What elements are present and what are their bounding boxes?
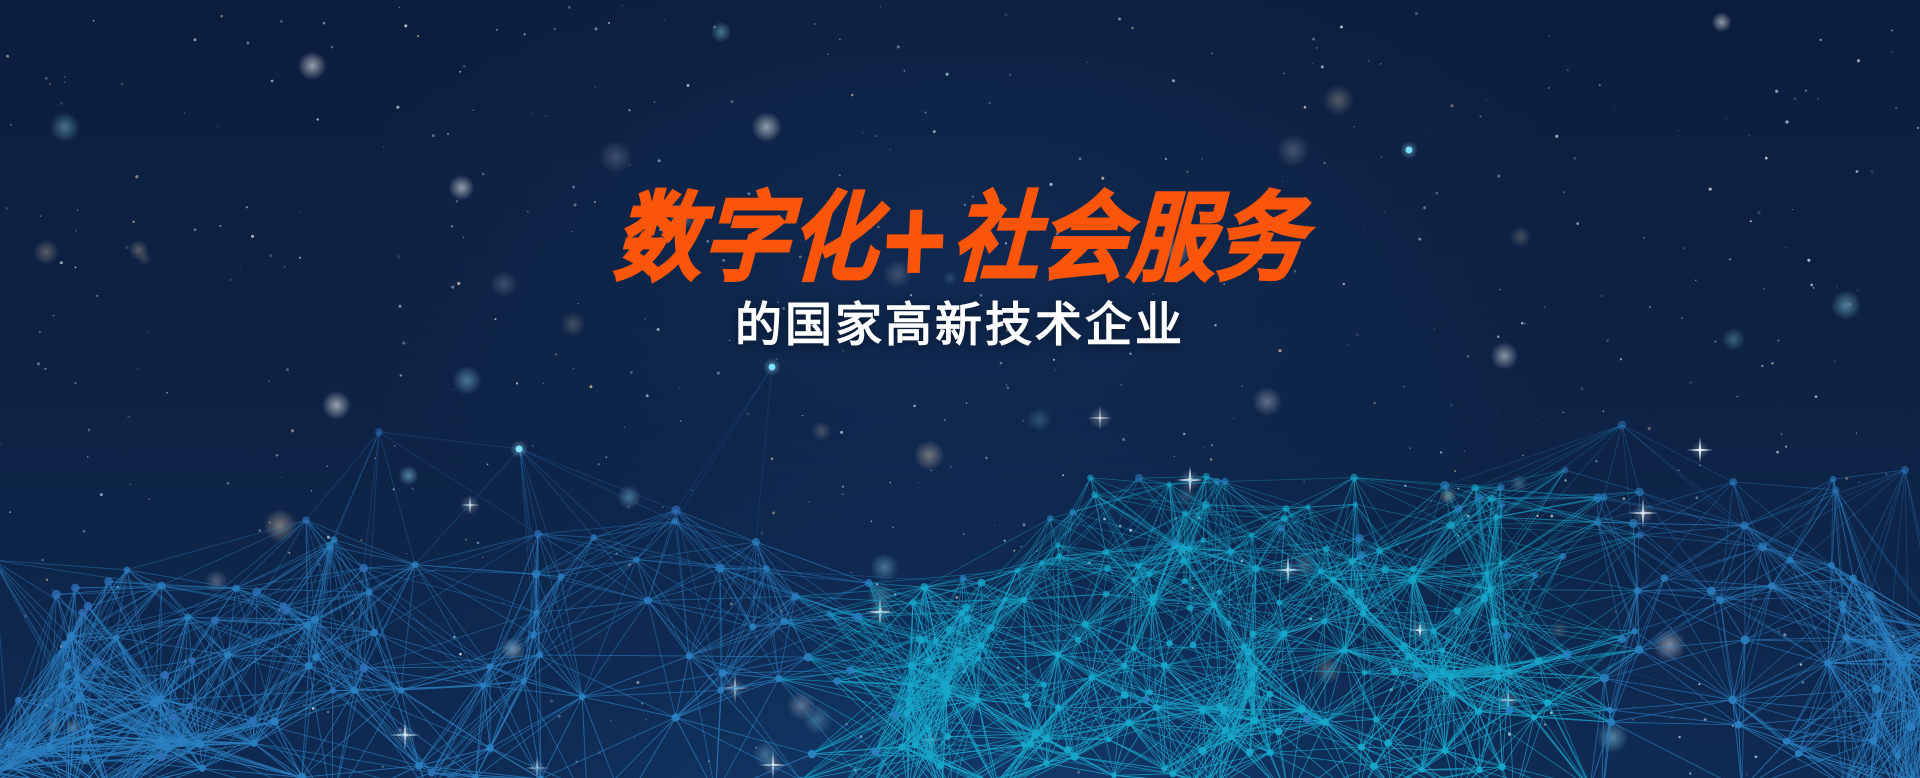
banner-stage: 数字化+社会服务 的国家高新技术企业 [0, 0, 1920, 778]
low-poly-network-mesh [0, 0, 1920, 778]
